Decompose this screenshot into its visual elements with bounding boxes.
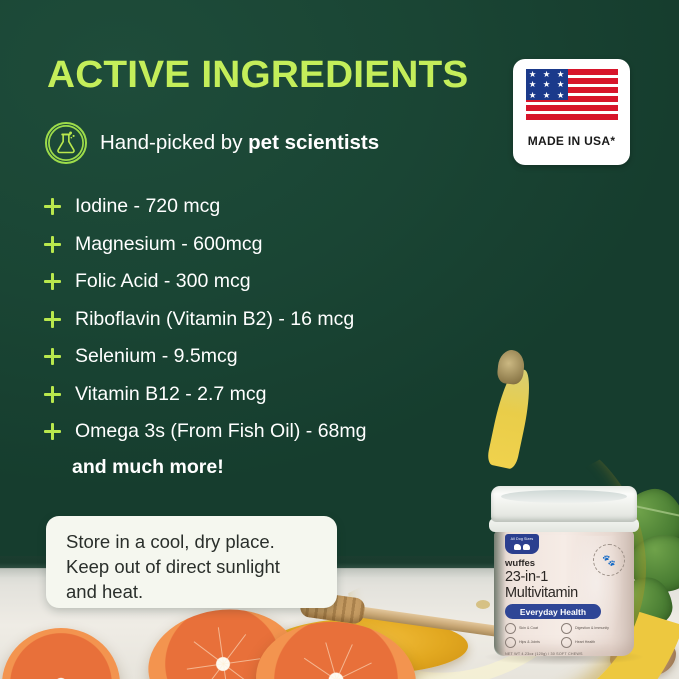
- joints-icon: [505, 637, 516, 648]
- ingredient-list: Iodine - 720 mcg Magnesium - 600mcg Foli…: [44, 193, 474, 456]
- product-jar: 🐾 All Dog Sizes wuffes 23-in-1 Multivita…: [489, 486, 639, 661]
- jar-lid: [491, 486, 637, 522]
- benefit-label: Skin & Coat: [519, 626, 538, 630]
- list-item: Selenium - 9.5mcg: [44, 343, 474, 381]
- subtitle-emphasis: pet scientists: [248, 131, 379, 154]
- dog-silhouette-icon: [514, 544, 530, 550]
- benefit-item: Heart Health: [561, 637, 613, 648]
- usa-flag-icon: ★ ★ ★ ★ ★ ★ ★ ★ ★: [526, 69, 618, 127]
- plus-icon: [44, 198, 61, 215]
- flag-star: ★: [543, 70, 551, 79]
- brand-name: wuffes: [505, 558, 625, 569]
- list-item: Iodine - 720 mcg: [44, 193, 474, 231]
- list-item: Folic Acid - 300 mcg: [44, 268, 474, 306]
- made-in-usa-badge: ★ ★ ★ ★ ★ ★ ★ ★ ★ MADE IN USA*: [513, 59, 630, 165]
- subtitle: Hand-picked by pet scientists: [100, 131, 379, 155]
- list-item: Omega 3s (From Fish Oil) - 68mg: [44, 418, 474, 456]
- plus-icon: [44, 423, 61, 440]
- product-infographic: 🐾 All Dog Sizes wuffes 23-in-1 Multivita…: [0, 0, 679, 679]
- closing-line: and much more!: [72, 456, 224, 479]
- flag-star: ★: [557, 91, 565, 100]
- flag-star: ★: [557, 80, 565, 89]
- list-item: Magnesium - 600mcg: [44, 231, 474, 269]
- ingredient-label: Omega 3s (From Fish Oil) - 68mg: [75, 418, 366, 444]
- all-dog-sizes-badge: All Dog Sizes: [505, 534, 539, 554]
- benefit-label: Heart Health: [575, 640, 595, 644]
- benefit-icon-grid: Skin & Coat Digestion & Immunity Hips & …: [505, 623, 625, 648]
- ingredient-label: Folic Acid - 300 mcg: [75, 268, 251, 294]
- storage-line-3: and heat.: [66, 579, 319, 604]
- skin-coat-icon: [505, 623, 516, 634]
- ingredient-label: Riboflavin (Vitamin B2) - 16 mcg: [75, 306, 354, 332]
- jar-label: All Dog Sizes wuffes 23-in-1 Multivitami…: [505, 534, 625, 656]
- flag-star: ★: [543, 80, 551, 89]
- product-name-line1: 23-in-1: [505, 570, 625, 585]
- all-dog-sizes-label: All Dog Sizes: [511, 538, 534, 542]
- benefit-item: Hips & Joints: [505, 637, 557, 648]
- plus-icon: [44, 386, 61, 403]
- benefit-label: Digestion & Immunity: [575, 626, 609, 630]
- everyday-health-label: Everyday Health: [520, 607, 586, 617]
- plus-icon: [44, 311, 61, 328]
- ingredient-label: Vitamin B12 - 2.7 mcg: [75, 381, 266, 407]
- benefit-item: Skin & Coat: [505, 623, 557, 634]
- made-in-usa-label: MADE IN USA*: [528, 134, 616, 148]
- flask-icon: [45, 122, 87, 164]
- ingredient-label: Selenium - 9.5mcg: [75, 343, 238, 369]
- page-title: ACTIVE INGREDIENTS: [47, 56, 468, 94]
- subtitle-row: Hand-picked by pet scientists: [45, 122, 379, 164]
- flag-star: ★: [543, 91, 551, 100]
- plus-icon: [44, 348, 61, 365]
- ingredient-label: Magnesium - 600mcg: [75, 231, 263, 257]
- list-item: Vitamin B12 - 2.7 mcg: [44, 381, 474, 419]
- storage-instructions-callout: Store in a cool, dry place. Keep out of …: [46, 516, 337, 608]
- heart-icon: [561, 637, 572, 648]
- plus-icon: [44, 273, 61, 290]
- flag-star: ★: [529, 70, 537, 79]
- flag-star: ★: [529, 80, 537, 89]
- ingredient-label: Iodine - 720 mcg: [75, 193, 220, 219]
- storage-line-1: Store in a cool, dry place.: [66, 529, 319, 554]
- net-weight-text: NET WT 4.23oz (120g) / 30 SOFT CHEWS: [505, 652, 625, 656]
- digestion-icon: [561, 623, 572, 634]
- storage-line-2: Keep out of direct sunlight: [66, 554, 319, 579]
- subtitle-prefix: Hand-picked by: [100, 131, 248, 154]
- flag-canton: ★ ★ ★ ★ ★ ★ ★ ★ ★: [526, 69, 568, 100]
- product-name-line2: Multivitamin: [505, 586, 625, 601]
- list-item: Riboflavin (Vitamin B2) - 16 mcg: [44, 306, 474, 344]
- benefit-label: Hips & Joints: [519, 640, 540, 644]
- plus-icon: [44, 236, 61, 253]
- flag-star: ★: [529, 91, 537, 100]
- everyday-health-pill: Everyday Health: [505, 604, 601, 619]
- benefit-item: Digestion & Immunity: [561, 623, 613, 634]
- flag-star: ★: [557, 70, 565, 79]
